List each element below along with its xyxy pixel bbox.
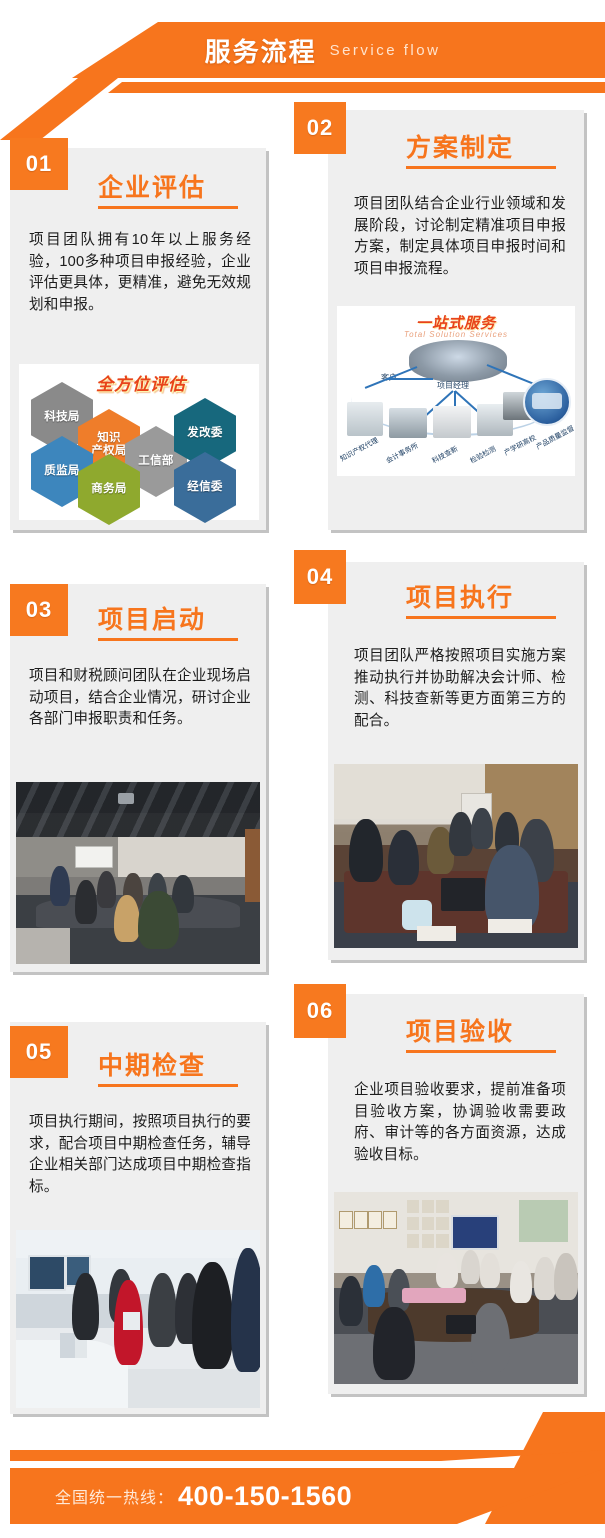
step-description: 项目执行期间，按照项目执行的要求，配合项目中期检查任务，辅导企业相关部门达成项目… (29, 1112, 251, 1198)
page-footer: 全国统一热线： 400-150-1560 (0, 1398, 605, 1538)
page-subtitle: Service flow (330, 42, 441, 59)
step-title: 方案制定 (406, 128, 514, 164)
assessment-hex-diagram: 全方位评估 科技局 知识产权局 质监局 工信部 商务局 发改委 (19, 364, 259, 520)
mid-term-inspection-photo (16, 1230, 260, 1408)
step-title: 项目启动 (98, 600, 206, 636)
service-arrow-0 (387, 378, 433, 380)
step-title: 中期检查 (98, 1046, 206, 1082)
service-node-5-label: 产品质量监督 (534, 423, 575, 452)
step-description: 项目团队结合企业行业领域和发展阶段，讨论制定精准项目申报方案，制定具体项目申报时… (354, 194, 566, 280)
hex-node-1-label: 知识产权局 (91, 432, 126, 457)
step-card-06[interactable]: 06 项目验收 企业项目验收要求，提前准备项目验收方案，协调验收需要政府、审计等… (328, 994, 584, 1394)
step-card-01[interactable]: 01 企业评估 项目团队拥有10年以上服务经验，100多种项目申报经验，企业评估… (10, 148, 266, 530)
hex-diagram-title: 全方位评估 (96, 370, 186, 395)
step-title: 项目执行 (406, 578, 514, 614)
service-node-2-image (433, 406, 471, 438)
step-number-badge: 05 (10, 1026, 68, 1078)
step-card-05[interactable]: 05 中期检查 项目执行期间，按照项目执行的要求，配合项目中期检查任务，辅导企业… (10, 1022, 266, 1414)
step-description: 企业项目验收要求，提前准备项目验收方案，协调验收需要政府、审计等的各方面资源，达… (354, 1080, 566, 1166)
service-node-3-label: 检验检测 (468, 444, 497, 466)
page-title: 服务流程 (205, 32, 317, 69)
service-node-1-label: 会计事务所 (384, 441, 420, 466)
hex-node-3-label: 工信部 (138, 455, 173, 468)
title-underline (406, 1050, 556, 1053)
header-title-group: 服务流程 Service flow (0, 22, 605, 78)
step-number-badge: 02 (294, 102, 346, 154)
step-card-03[interactable]: 03 项目启动 项目和财税顾问团队在企业现场启动项目，结合企业情况，研讨企业各部… (10, 584, 266, 972)
service-node-0-label: 知识产权代理 (338, 435, 380, 464)
step-title: 项目验收 (406, 1012, 514, 1048)
step-description: 项目团队拥有10年以上服务经验，100多种项目申报经验，企业评估更具体，更精准，… (29, 230, 251, 316)
service-node-0-image (347, 402, 383, 436)
title-underline (98, 638, 238, 641)
project-execution-photo (334, 764, 578, 948)
service-node-2-label: 科技查新 (430, 444, 459, 466)
hotline-label: 全国统一热线： (55, 1484, 174, 1508)
step-title: 企业评估 (98, 168, 206, 204)
kickoff-meeting-photo (16, 782, 260, 964)
hex-node-5-label: 发改委 (187, 427, 222, 440)
step-description: 项目和财税顾问团队在企业现场启动项目，结合企业情况，研讨企业各部门申报职责和任务… (29, 666, 251, 731)
hex-node-0-label: 科技局 (44, 411, 79, 424)
service-flow-infographic: 服务流程 Service flow 01 企业评估 项目团队拥有10年以上服务经… (0, 0, 605, 1538)
step-number-badge: 01 (10, 138, 68, 190)
hex-node-4-label: 商务局 (91, 483, 126, 496)
service-node-4-label: 产学研高校 (502, 433, 538, 458)
service-node-1-image (389, 408, 427, 438)
title-underline (406, 166, 556, 169)
title-underline (98, 206, 238, 209)
footer-accent-stripe (10, 1450, 605, 1461)
service-diagram-subtitle: Total Solution Services (337, 330, 575, 339)
one-stop-service-diagram: 一站式服务 Total Solution Services 客户 项目经理 (337, 306, 575, 476)
hotline-group: 全国统一热线： 400-150-1560 (55, 1468, 352, 1524)
step-number-badge: 03 (10, 584, 68, 636)
hotline-number[interactable]: 400-150-1560 (178, 1481, 352, 1512)
step-card-02[interactable]: 02 方案制定 项目团队结合企业行业领域和发展阶段，讨论制定精准项目申报方案，制… (328, 110, 584, 530)
service-iso-seal (523, 378, 571, 426)
title-underline (98, 1084, 238, 1087)
step-number-badge: 04 (294, 550, 346, 604)
page-header: 服务流程 Service flow (0, 0, 605, 112)
step-card-04[interactable]: 04 项目执行 项目团队严格按照项目实施方案推动执行并协助解决会计师、检测、科技… (328, 562, 584, 960)
step-number-badge: 06 (294, 984, 346, 1038)
step-description: 项目团队严格按照项目实施方案推动执行并协助解决会计师、检测、科技查新等更方面第三… (354, 646, 566, 732)
hex-node-2-label: 质监局 (44, 465, 79, 478)
hex-node-6-label: 经信委 (187, 481, 222, 494)
title-underline (406, 616, 556, 619)
project-acceptance-photo (334, 1192, 578, 1384)
